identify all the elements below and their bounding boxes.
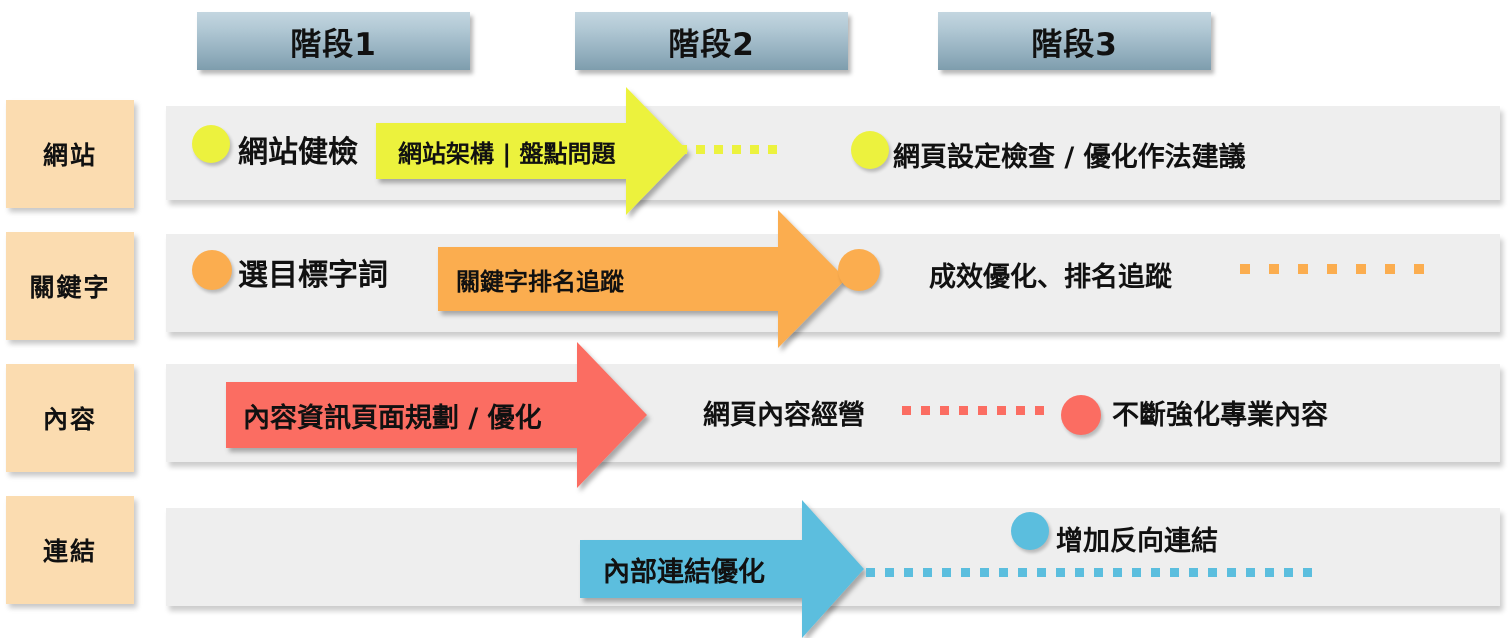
dot-segment: [961, 568, 970, 577]
arrow-link-1: 內部連結優化: [580, 500, 864, 638]
dot-segment: [1113, 568, 1122, 577]
row-label-website-2: 網頁設定檢查 / 優化作法建議: [893, 135, 1246, 174]
dotted-connector-content-1: [902, 406, 1054, 415]
seo-roadmap-diagram: 階段1階段2階段3網站關鍵字內容連結網站架構 | 盤點問題網站健檢網頁設定檢查 …: [0, 0, 1511, 622]
dot-segment: [997, 406, 1006, 415]
arrow-website-1: 網站架構 | 盤點問題: [376, 87, 688, 215]
phase-header-label: 階段2: [668, 19, 755, 64]
row-label-keyword-2: 成效優化、排名追蹤: [929, 255, 1172, 294]
category-label-text: 內容: [43, 400, 97, 436]
dot-segment: [732, 145, 741, 154]
dot-segment: [1227, 568, 1236, 577]
dot-segment: [1132, 568, 1141, 577]
dot-segment: [750, 145, 759, 154]
dot-segment: [696, 145, 705, 154]
dot-segment: [980, 568, 989, 577]
dot-segment: [1265, 568, 1274, 577]
category-label-text: 網站: [43, 136, 97, 172]
dot-segment: [959, 406, 968, 415]
dot-segment: [866, 568, 875, 577]
dotted-connector-keyword-1: [1240, 264, 1443, 274]
row-label-content-2: 不斷強化專業內容: [1112, 393, 1328, 432]
category-label-2: 關鍵字: [6, 232, 134, 340]
dot-segment: [1075, 568, 1084, 577]
milestone-dot-content-1: [1061, 395, 1101, 435]
phase-header-1: 階段1: [197, 12, 470, 70]
dot-segment: [942, 568, 951, 577]
dot-segment: [1018, 568, 1027, 577]
dot-segment: [678, 145, 687, 154]
arrow-label: 內容資訊頁面規劃 / 優化: [243, 382, 542, 448]
dot-segment: [1094, 568, 1103, 577]
dot-segment: [902, 406, 911, 415]
dot-segment: [1269, 264, 1279, 274]
dot-segment: [940, 406, 949, 415]
dotted-connector-link-1: [866, 568, 1322, 577]
milestone-dot-keyword-1: [192, 250, 232, 290]
dot-segment: [1189, 568, 1198, 577]
dot-segment: [1151, 568, 1160, 577]
dot-segment: [714, 145, 723, 154]
arrow-keyword-1: 關鍵字排名追蹤: [438, 210, 846, 348]
row-label-content-1: 網頁內容經營: [703, 393, 865, 432]
dot-segment: [1327, 264, 1337, 274]
arrow-label: 內部連結優化: [603, 540, 765, 598]
dot-segment: [1284, 568, 1293, 577]
dot-segment: [1056, 568, 1065, 577]
phase-header-label: 階段1: [290, 19, 377, 64]
arrow-label: 關鍵字排名追蹤: [456, 247, 624, 311]
dot-segment: [1208, 568, 1217, 577]
dot-segment: [1303, 568, 1312, 577]
category-label-text: 關鍵字: [29, 268, 110, 304]
milestone-dot-website-1: [192, 125, 230, 163]
category-label-1: 網站: [6, 100, 134, 208]
dot-segment: [1298, 264, 1308, 274]
category-label-3: 內容: [6, 364, 134, 472]
row-label-link-1: 增加反向連結: [1056, 519, 1218, 558]
dot-segment: [1240, 264, 1250, 274]
category-label-4: 連結: [6, 496, 134, 604]
category-label-text: 連結: [43, 532, 97, 568]
dot-segment: [1016, 406, 1025, 415]
dotted-connector-website-1: [678, 145, 786, 154]
dot-segment: [1385, 264, 1395, 274]
dot-segment: [923, 568, 932, 577]
dot-segment: [978, 406, 987, 415]
milestone-dot-link-1: [1011, 512, 1049, 550]
arrow-label: 網站架構 | 盤點問題: [398, 123, 615, 179]
row-band-website: [166, 106, 1500, 200]
row-label-website-1: 網站健檢: [238, 127, 358, 171]
dot-segment: [921, 406, 930, 415]
milestone-dot-keyword-2: [838, 249, 880, 291]
milestone-dot-website-2: [851, 131, 889, 169]
dot-segment: [768, 145, 777, 154]
dot-segment: [1246, 568, 1255, 577]
arrow-content-1: 內容資訊頁面規劃 / 優化: [226, 342, 647, 488]
phase-header-label: 階段3: [1031, 19, 1118, 64]
dot-segment: [1035, 406, 1044, 415]
dot-segment: [999, 568, 1008, 577]
phase-header-2: 階段2: [575, 12, 848, 70]
phase-header-3: 階段3: [938, 12, 1211, 70]
dot-segment: [885, 568, 894, 577]
dot-segment: [1414, 264, 1424, 274]
dot-segment: [1170, 568, 1179, 577]
dot-segment: [1037, 568, 1046, 577]
dot-segment: [1356, 264, 1366, 274]
dot-segment: [904, 568, 913, 577]
row-label-keyword-1: 選目標字詞: [238, 250, 388, 294]
